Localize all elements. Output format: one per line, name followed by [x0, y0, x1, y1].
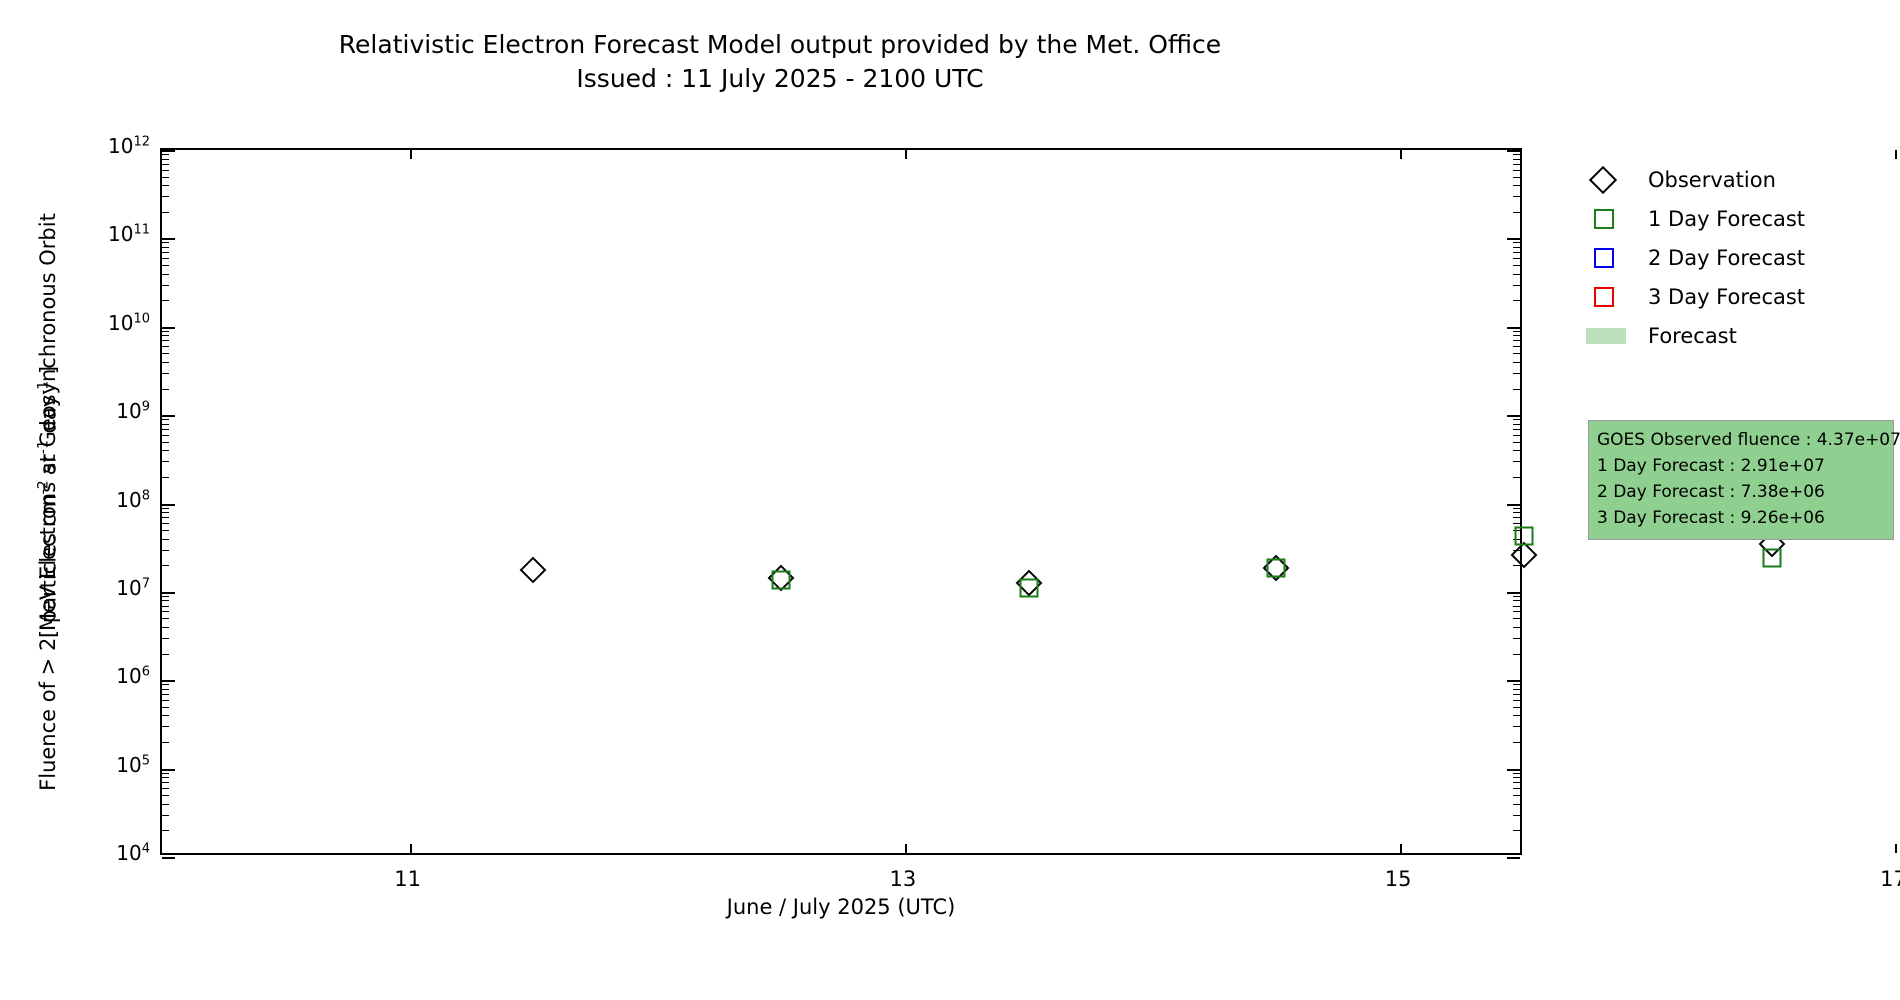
y-tick-label: 1011: [78, 222, 150, 246]
y-axis-minor-tick: [162, 362, 169, 363]
y-axis-minor-tick: [162, 154, 169, 155]
x-axis-tick: [1400, 844, 1402, 853]
y-axis-minor-tick-right: [1513, 777, 1520, 778]
y-tick-label: 104: [78, 841, 150, 865]
y-axis-minor-tick-right: [1513, 177, 1520, 178]
y-axis-minor-tick: [162, 684, 169, 685]
y-axis-minor-tick-right: [1513, 517, 1520, 518]
y-axis-minor-tick-right: [1513, 461, 1520, 462]
forecast-marker: [772, 571, 791, 590]
legend-label: 3 Day Forecast: [1648, 285, 1805, 309]
legend-item-3-day-forecast[interactable]: 3 Day Forecast: [1590, 277, 1880, 316]
y-axis-tick-right: [1507, 238, 1520, 240]
y-axis-minor-tick: [162, 600, 169, 601]
summary-2-day-forecast: 2 Day Forecast : 7.38e+06: [1597, 479, 1885, 505]
y-axis-minor-tick-right: [1513, 742, 1520, 743]
y-axis-minor-tick-right: [1513, 596, 1520, 597]
y-axis-minor-tick-right: [1513, 606, 1520, 607]
legend-label: Observation: [1648, 168, 1776, 192]
y-tick-label: 107: [78, 576, 150, 600]
y-axis-minor-tick-right: [1513, 618, 1520, 619]
y-axis-minor-tick: [162, 523, 169, 524]
y-axis-tick: [162, 150, 175, 152]
y-axis-minor-tick: [162, 424, 169, 425]
y-axis-tick: [162, 592, 175, 594]
legend-item-2-day-forecast[interactable]: 2 Day Forecast: [1590, 238, 1880, 277]
y-axis-minor-tick-right: [1513, 788, 1520, 789]
legend-item-1-day-forecast[interactable]: 1 Day Forecast: [1590, 199, 1880, 238]
y-axis-minor-tick: [162, 606, 169, 607]
y-axis-minor-tick: [162, 247, 169, 248]
x-tick-label: 13: [873, 867, 933, 891]
y-axis-minor-tick: [162, 689, 169, 690]
y-axis-minor-tick: [162, 177, 169, 178]
y-axis-minor-tick: [162, 258, 169, 259]
y-axis-minor-tick-right: [1513, 247, 1520, 248]
y-axis-minor-tick: [162, 777, 169, 778]
y-axis-minor-tick: [162, 242, 169, 243]
y-axis-minor-tick: [162, 654, 169, 655]
y-axis-title-line2: [ particles cm-2 sr-1 day-1 ]: [36, 365, 61, 637]
y-axis-minor-tick: [162, 450, 169, 451]
y-tick-label: 1012: [78, 134, 150, 158]
y-axis-minor-tick: [162, 700, 169, 701]
y-axis-minor-tick: [162, 331, 169, 332]
fluence-summary-box: GOES Observed fluence : 4.37e+07 1 Day F…: [1588, 420, 1894, 540]
legend-label: Forecast: [1648, 324, 1737, 348]
y-axis-minor-tick-right: [1513, 252, 1520, 253]
y-axis-minor-tick-right: [1513, 707, 1520, 708]
y-axis-minor-tick-right: [1513, 274, 1520, 275]
x-axis-title: June / July 2025 (UTC): [160, 895, 1522, 919]
forecast-marker: [1019, 579, 1038, 598]
y-axis-minor-tick: [162, 530, 169, 531]
x-axis-tick: [410, 844, 412, 853]
y-axis-minor-tick-right: [1513, 477, 1520, 478]
y-axis-minor-tick: [162, 611, 169, 612]
y-axis-minor-tick-right: [1513, 331, 1520, 332]
y-axis-tick: [162, 857, 175, 859]
y-axis-tick-right: [1507, 857, 1520, 859]
y-axis-minor-tick-right: [1513, 424, 1520, 425]
band-patch-icon: [1590, 322, 1618, 350]
y-axis-minor-tick-right: [1513, 773, 1520, 774]
y-axis-minor-tick: [162, 707, 169, 708]
y-axis-minor-tick-right: [1513, 164, 1520, 165]
y-axis-minor-tick: [162, 773, 169, 774]
y-axis-minor-tick: [162, 565, 169, 566]
y-axis-minor-tick: [162, 638, 169, 639]
x-axis-tick: [905, 844, 907, 853]
y-axis-minor-tick-right: [1513, 389, 1520, 390]
y-axis-minor-tick: [162, 164, 169, 165]
y-axis-minor-tick: [162, 212, 169, 213]
y-axis-minor-tick: [162, 804, 169, 805]
y-axis-minor-tick: [162, 788, 169, 789]
square-marker-red-icon: [1590, 283, 1618, 311]
y-axis-minor-tick-right: [1513, 154, 1520, 155]
y-axis-minor-tick: [162, 618, 169, 619]
y-axis-minor-tick: [162, 830, 169, 831]
y-axis-minor-tick-right: [1513, 419, 1520, 420]
y-axis-minor-tick: [162, 550, 169, 551]
y-axis-minor-tick-right: [1513, 435, 1520, 436]
y-axis-tick: [162, 769, 175, 771]
y-axis-minor-tick: [162, 196, 169, 197]
x-axis-tick-top: [410, 150, 412, 159]
y-axis-tick-right: [1507, 504, 1520, 506]
y-axis-minor-tick: [162, 715, 169, 716]
y-tick-label: 106: [78, 664, 150, 688]
y-axis-minor-tick-right: [1513, 185, 1520, 186]
y-axis-minor-tick: [162, 265, 169, 266]
x-axis-tick-top: [905, 150, 907, 159]
y-axis-minor-tick: [162, 795, 169, 796]
y-axis-minor-tick: [162, 477, 169, 478]
legend-label: 2 Day Forecast: [1648, 246, 1805, 270]
y-axis-minor-tick: [162, 539, 169, 540]
y-axis-minor-tick-right: [1513, 450, 1520, 451]
y-axis-minor-tick-right: [1513, 265, 1520, 266]
y-axis-minor-tick: [162, 373, 169, 374]
y-axis-tick: [162, 415, 175, 417]
x-axis-tick-top: [1400, 150, 1402, 159]
y-axis-minor-tick-right: [1513, 700, 1520, 701]
y-axis-minor-tick-right: [1513, 715, 1520, 716]
y-axis-minor-tick: [162, 694, 169, 695]
y-axis-minor-tick-right: [1513, 170, 1520, 171]
x-axis-tick: [1895, 844, 1897, 853]
y-axis-minor-tick: [162, 627, 169, 628]
y-tick-label: 105: [78, 753, 150, 777]
y-axis-minor-tick: [162, 442, 169, 443]
y-axis-minor-tick-right: [1513, 638, 1520, 639]
y-axis-minor-tick-right: [1513, 611, 1520, 612]
forecast-marker: [1267, 559, 1286, 578]
y-axis-minor-tick-right: [1513, 654, 1520, 655]
square-marker-blue-icon: [1590, 244, 1618, 272]
summary-1-day-forecast: 1 Day Forecast : 2.91e+07: [1597, 453, 1885, 479]
forecast-marker: [1762, 549, 1781, 568]
y-axis-tick-right: [1507, 150, 1520, 152]
observation-marker: [520, 557, 547, 584]
y-axis-minor-tick: [162, 353, 169, 354]
x-axis-tick-top: [1895, 150, 1897, 159]
summary-observed-fluence: GOES Observed fluence : 4.37e+07: [1597, 427, 1885, 453]
y-axis-minor-tick-right: [1513, 600, 1520, 601]
y-axis-minor-tick-right: [1513, 353, 1520, 354]
y-axis-minor-tick-right: [1513, 429, 1520, 430]
y-axis-minor-tick-right: [1513, 782, 1520, 783]
y-axis-tick: [162, 680, 175, 682]
y-axis-tick: [162, 327, 175, 329]
y-axis-minor-tick-right: [1513, 373, 1520, 374]
y-axis-minor-tick-right: [1513, 242, 1520, 243]
x-tick-label: 11: [378, 867, 438, 891]
y-axis-minor-tick: [162, 419, 169, 420]
y-axis-minor-tick-right: [1513, 689, 1520, 690]
y-axis-minor-tick-right: [1513, 565, 1520, 566]
y-axis-minor-tick-right: [1513, 830, 1520, 831]
y-axis-minor-tick-right: [1513, 684, 1520, 685]
y-axis-minor-tick: [162, 512, 169, 513]
y-axis-minor-tick: [162, 300, 169, 301]
y-axis-minor-tick: [162, 815, 169, 816]
y-axis-minor-tick: [162, 335, 169, 336]
y-axis-minor-tick-right: [1513, 159, 1520, 160]
y-axis-minor-tick-right: [1513, 196, 1520, 197]
y-axis-minor-tick: [162, 389, 169, 390]
y-axis-tick: [162, 238, 175, 240]
y-axis-minor-tick-right: [1513, 694, 1520, 695]
y-axis-minor-tick: [162, 340, 169, 341]
y-axis-minor-tick-right: [1513, 335, 1520, 336]
y-axis-minor-tick-right: [1513, 523, 1520, 524]
y-axis-minor-tick-right: [1513, 285, 1520, 286]
y-axis-minor-tick: [162, 461, 169, 462]
y-tick-label: 1010: [78, 311, 150, 335]
y-axis-minor-tick: [162, 517, 169, 518]
y-axis-tick-right: [1507, 415, 1520, 417]
y-axis-minor-tick: [162, 742, 169, 743]
y-axis-minor-tick: [162, 185, 169, 186]
page-title: Relativistic Electron Forecast Model out…: [0, 28, 1560, 62]
y-axis-tick-right: [1507, 592, 1520, 594]
y-axis-minor-tick-right: [1513, 508, 1520, 509]
x-tick-label: 15: [1368, 867, 1428, 891]
y-axis-tick-right: [1507, 327, 1520, 329]
legend-item-observation[interactable]: Observation: [1590, 160, 1880, 199]
y-axis-minor-tick-right: [1513, 212, 1520, 213]
y-axis-minor-tick: [162, 159, 169, 160]
chart-legend: Observation 1 Day Forecast 2 Day Forecas…: [1590, 160, 1880, 355]
legend-label: 1 Day Forecast: [1648, 207, 1805, 231]
y-axis-minor-tick-right: [1513, 258, 1520, 259]
y-axis-tick: [162, 504, 175, 506]
y-axis-minor-tick-right: [1513, 362, 1520, 363]
y-axis-tick-right: [1507, 680, 1520, 682]
chart-title-block: Relativistic Electron Forecast Model out…: [0, 28, 1560, 96]
y-axis-minor-tick: [162, 429, 169, 430]
y-axis-minor-tick-right: [1513, 804, 1520, 805]
y-axis-minor-tick: [162, 596, 169, 597]
square-marker-green-icon: [1590, 205, 1618, 233]
y-axis-minor-tick: [162, 346, 169, 347]
y-axis-minor-tick-right: [1513, 512, 1520, 513]
y-axis-minor-tick: [162, 726, 169, 727]
y-axis-minor-tick: [162, 170, 169, 171]
y-axis-minor-tick-right: [1513, 300, 1520, 301]
y-tick-label: 109: [78, 399, 150, 423]
y-axis-minor-tick: [162, 252, 169, 253]
y-axis-minor-tick-right: [1513, 627, 1520, 628]
page-subtitle: Issued : 11 July 2025 - 2100 UTC: [0, 62, 1560, 96]
y-axis-minor-tick-right: [1513, 442, 1520, 443]
y-axis-minor-tick: [162, 782, 169, 783]
y-axis-minor-tick-right: [1513, 346, 1520, 347]
y-axis-minor-tick-right: [1513, 340, 1520, 341]
x-tick-label: 17: [1863, 867, 1900, 891]
y-axis-minor-tick: [162, 435, 169, 436]
y-axis-tick-right: [1507, 769, 1520, 771]
legend-item-forecast-band[interactable]: Forecast: [1590, 316, 1880, 355]
y-axis-minor-tick: [162, 274, 169, 275]
forecast-marker: [1515, 526, 1534, 545]
y-axis-minor-tick-right: [1513, 795, 1520, 796]
y-axis-minor-tick-right: [1513, 726, 1520, 727]
plot-area: Forecast: [160, 148, 1522, 855]
y-axis-minor-tick: [162, 508, 169, 509]
summary-3-day-forecast: 3 Day Forecast : 9.26e+06: [1597, 505, 1885, 531]
y-axis-minor-tick: [162, 285, 169, 286]
y-tick-label: 108: [78, 488, 150, 512]
y-axis-minor-tick-right: [1513, 815, 1520, 816]
diamond-marker-icon: [1590, 166, 1618, 194]
